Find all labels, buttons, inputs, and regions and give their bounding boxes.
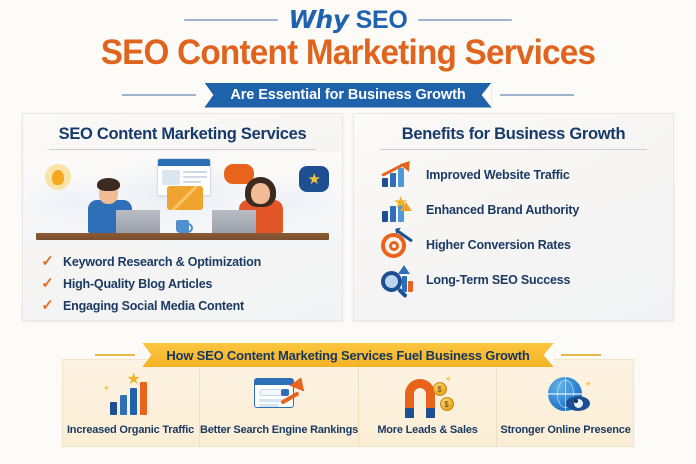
- laptop-right-screen: [212, 210, 256, 233]
- list-item-label: Enhanced Brand Authority: [426, 203, 579, 217]
- list-item: Long-Term SEO Success: [380, 262, 673, 297]
- sparkle-icon: ✦: [102, 384, 110, 393]
- bottom-section: How SEO Content Marketing Services Fuel …: [0, 342, 696, 464]
- eyebrow-why-text: Why: [288, 7, 348, 32]
- chart-bar: [390, 173, 396, 187]
- check-icon: ✓: [41, 254, 54, 269]
- target-bullseye: [392, 244, 396, 248]
- coin-icon: $: [440, 397, 454, 411]
- list-item: Improved Website Traffic: [380, 157, 673, 192]
- chart-bar: [382, 178, 388, 187]
- target-dart-icon: [380, 229, 414, 260]
- star-badge-icon: ★: [299, 166, 329, 192]
- browser-titlebar: [255, 379, 293, 385]
- chart-bar: [398, 168, 404, 187]
- browser-text-line: [183, 171, 207, 173]
- list-item-label: Higher Conversion Rates: [426, 238, 571, 252]
- laptop-left: [116, 210, 160, 233]
- laptop-right: [212, 210, 256, 233]
- bottom-rule-left: [95, 354, 135, 356]
- subtitle-ribbon: Are Essential for Business Growth: [204, 83, 491, 108]
- browser-arrow-icon: [250, 374, 308, 418]
- list-item-label: High-Quality Blog Articles: [63, 277, 212, 291]
- eyebrow-rule-left: [184, 19, 278, 21]
- magnet-body: [405, 379, 435, 409]
- bottom-card-label: Better Search Engine Rankings: [200, 424, 358, 436]
- bottom-card-leads-sales: $ $ ✦ More Leads & Sales: [358, 359, 496, 447]
- page-title: SEO Content Marketing Services: [17, 33, 678, 73]
- left-panel-underline: [49, 149, 317, 150]
- chart-bar: [382, 211, 388, 222]
- person-male-hair: [97, 178, 120, 191]
- eye-pupil: [574, 399, 583, 408]
- search-field-graphic: [259, 389, 283, 396]
- arrow-head-icon: [398, 265, 410, 274]
- bottom-card-search-rankings: Better Search Engine Rankings: [199, 359, 358, 447]
- right-panel: Benefits for Business Growth Improved We…: [353, 113, 674, 321]
- eyebrow-seo-text: SEO: [356, 8, 408, 33]
- browser-text-line: [183, 176, 207, 178]
- list-item-label: Engaging Social Media Content: [63, 299, 244, 313]
- eyebrow-rule-right: [418, 19, 512, 21]
- check-icon: ✓: [41, 298, 54, 313]
- left-panel: SEO Content Marketing Services: [22, 113, 343, 321]
- chart-bar: [130, 388, 137, 415]
- infographic-poster: Why SEO SEO Content Marketing Services A…: [0, 0, 696, 464]
- browser-window-graphic: [254, 378, 294, 408]
- browser-thumbnail: [162, 170, 180, 185]
- coin-icon: $: [433, 382, 447, 396]
- star-icon: ★: [126, 372, 140, 388]
- bottom-card-label: Stronger Online Presence: [500, 424, 630, 436]
- coffee-mug-icon: [176, 220, 189, 233]
- bar-chart-star-icon: ★ ✦: [101, 374, 159, 418]
- list-item: ★ Enhanced Brand Authority: [380, 192, 673, 227]
- list-item: Higher Conversion Rates: [380, 227, 673, 262]
- desk-surface: [36, 233, 329, 240]
- bottom-card-online-presence: ✦ Stronger Online Presence: [496, 359, 634, 447]
- search-button-graphic: [281, 389, 289, 396]
- subtitle-ribbon-row: Are Essential for Business Growth: [0, 82, 696, 108]
- bottom-card-organic-traffic: ★ ✦ Increased Organic Traffic: [62, 359, 199, 447]
- eye-icon: [566, 396, 590, 411]
- list-item: ✓ Keyword Research & Optimization: [41, 252, 342, 271]
- bottom-ribbon: How SEO Content Marketing Services Fuel …: [142, 343, 553, 367]
- target-ring-3: [389, 241, 399, 251]
- lightbulb-glow: [52, 170, 64, 185]
- globe-eye-icon: ✦: [536, 374, 594, 418]
- subtitle-rule-right: [500, 94, 574, 96]
- benefits-list: Improved Website Traffic ★ Enhanced Bran…: [354, 150, 673, 297]
- bottom-cards-row: ★ ✦ Increased Organic Traffic: [62, 359, 634, 447]
- list-item-label: Long-Term SEO Success: [426, 273, 570, 287]
- sparkle-icon: ✦: [445, 375, 453, 384]
- list-item: ✓ High-Quality Blog Articles: [41, 274, 342, 293]
- left-panel-title: SEO Content Marketing Services: [23, 114, 342, 144]
- chart-bar: [110, 402, 117, 415]
- browser-text-line: [183, 181, 201, 183]
- chart-bar: [402, 276, 407, 292]
- bottom-card-label: Increased Organic Traffic: [67, 424, 194, 436]
- chart-bar: [408, 281, 413, 292]
- chart-bar: [140, 382, 147, 415]
- envelope-icon: [167, 186, 203, 210]
- magnet-foot: [426, 408, 435, 418]
- eyebrow: Why SEO: [288, 7, 407, 33]
- star-glyph: ★: [308, 172, 321, 187]
- two-people-at-laptops-illustration: ★: [23, 152, 342, 244]
- growth-chart-arrow-icon: [380, 159, 414, 190]
- target-ring-2: [385, 237, 402, 254]
- eyebrow-row: Why SEO: [0, 6, 696, 34]
- services-checklist: ✓ Keyword Research & Optimization ✓ High…: [23, 244, 342, 315]
- arrow-head-icon: [400, 202, 412, 211]
- list-item-label: Keyword Research & Optimization: [63, 255, 261, 269]
- browser-titlebar: [158, 159, 210, 166]
- laptop-left-screen: [116, 210, 160, 233]
- browser-text-line: [259, 404, 279, 407]
- bar-chart-star-icon: ★: [380, 194, 414, 225]
- magnet-foot: [405, 408, 414, 418]
- magnifier-growth-icon: [380, 264, 414, 295]
- header: Why SEO SEO Content Marketing Services A…: [0, 0, 696, 112]
- magnet-coins-icon: $ $ ✦: [399, 374, 457, 418]
- panels-row: SEO Content Marketing Services: [22, 113, 674, 321]
- bottom-ribbon-row: How SEO Content Marketing Services Fuel …: [0, 342, 696, 368]
- person-female-head: [251, 183, 270, 204]
- list-item: ✓ Engaging Social Media Content: [41, 296, 342, 315]
- bottom-card-label: More Leads & Sales: [377, 424, 477, 436]
- bottom-rule-right: [561, 354, 601, 356]
- right-panel-title: Benefits for Business Growth: [354, 114, 673, 144]
- chart-bar: [120, 395, 127, 415]
- subtitle-rule-left: [122, 94, 196, 96]
- sparkle-icon: ✦: [584, 380, 592, 389]
- list-item-label: Improved Website Traffic: [426, 168, 570, 182]
- check-icon: ✓: [41, 276, 54, 291]
